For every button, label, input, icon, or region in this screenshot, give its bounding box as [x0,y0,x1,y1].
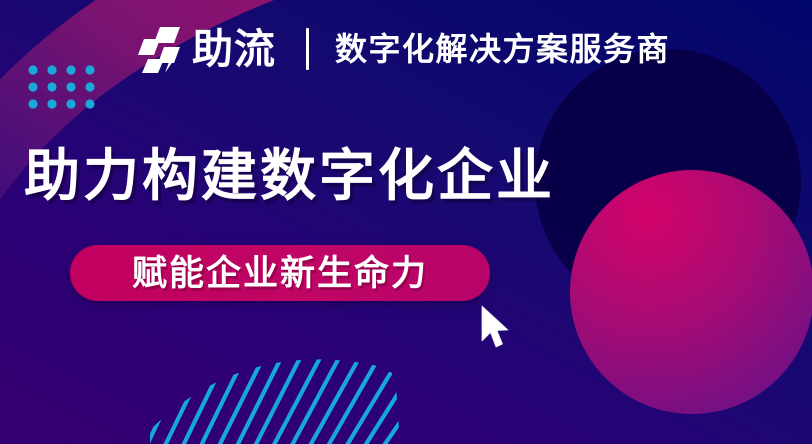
brand-tagline: 数字化解决方案服务商 [335,33,670,65]
header-divider [306,28,309,70]
magenta-gradient-circle [570,170,812,414]
brand-header: 助流 数字化解决方案服务商 [134,20,670,78]
hero-headline: 助力构建数字化企业 [24,146,555,206]
cta-pill-label: 赋能企业新生命力 [132,256,428,291]
promo-banner: 助流 数字化解决方案服务商 助力构建数字化企业 赋能企业新生命力 [0,0,812,444]
zhuliu-logo-icon [134,23,186,75]
logo-wordmark: 助流 [192,29,276,70]
cta-pill-button[interactable]: 赋能企业新生命力 [70,245,490,301]
